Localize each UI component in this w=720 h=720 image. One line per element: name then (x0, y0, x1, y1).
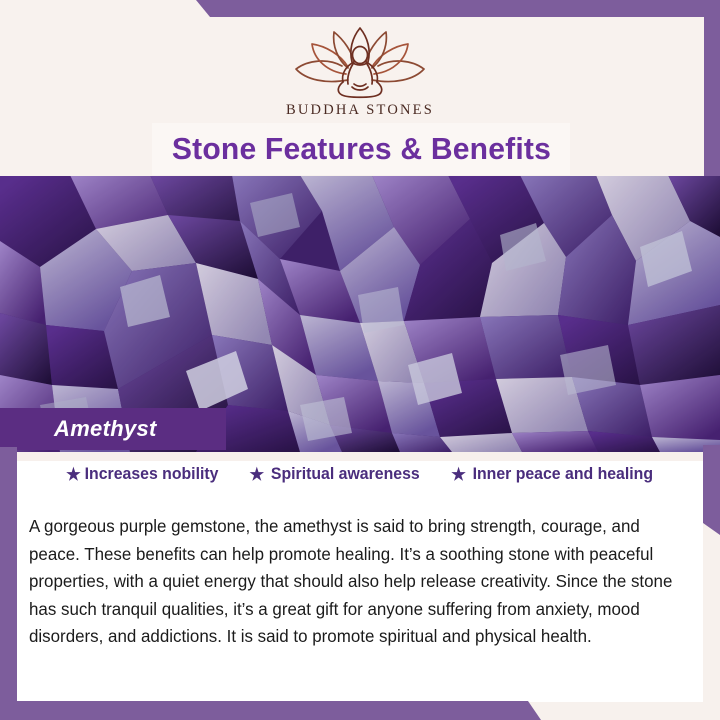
frame-band-left (0, 447, 17, 720)
benefit-label: Inner peace and healing (472, 465, 652, 484)
content-panel: ★ Increases nobility ★ Spiritual awarene… (17, 452, 703, 702)
benefit-item: ★ Spiritual awareness (249, 465, 419, 484)
star-icon: ★ (451, 466, 466, 483)
stone-name-label: Amethyst (0, 408, 226, 450)
benefit-item: ★ Increases nobility (66, 465, 218, 484)
benefits-row: ★ Increases nobility ★ Spiritual awarene… (17, 465, 703, 484)
frame-band-right-lower (703, 445, 720, 535)
frame-band-bottom (0, 701, 720, 720)
brand-logo: BUDDHA STONES (0, 22, 720, 119)
frame-band-right-upper (704, 0, 720, 176)
stone-description: A gorgeous purple gemstone, the amethyst… (29, 513, 683, 651)
lotus-meditation-icon (286, 22, 434, 100)
page-title-plate: Stone Features & Benefits (152, 123, 570, 175)
benefit-label: Increases nobility (85, 465, 219, 484)
panel-top-divider (17, 452, 703, 461)
stone-name-text: Amethyst (54, 416, 157, 442)
brand-name: BUDDHA STONES (0, 102, 720, 119)
star-icon: ★ (66, 466, 81, 483)
star-icon: ★ (249, 466, 264, 483)
infographic-page: BUDDHA STONES (0, 0, 720, 720)
benefit-label: Spiritual awareness (270, 465, 419, 484)
page-title: Stone Features & Benefits (171, 131, 550, 167)
benefit-item: ★ Inner peace and healing (451, 465, 653, 484)
